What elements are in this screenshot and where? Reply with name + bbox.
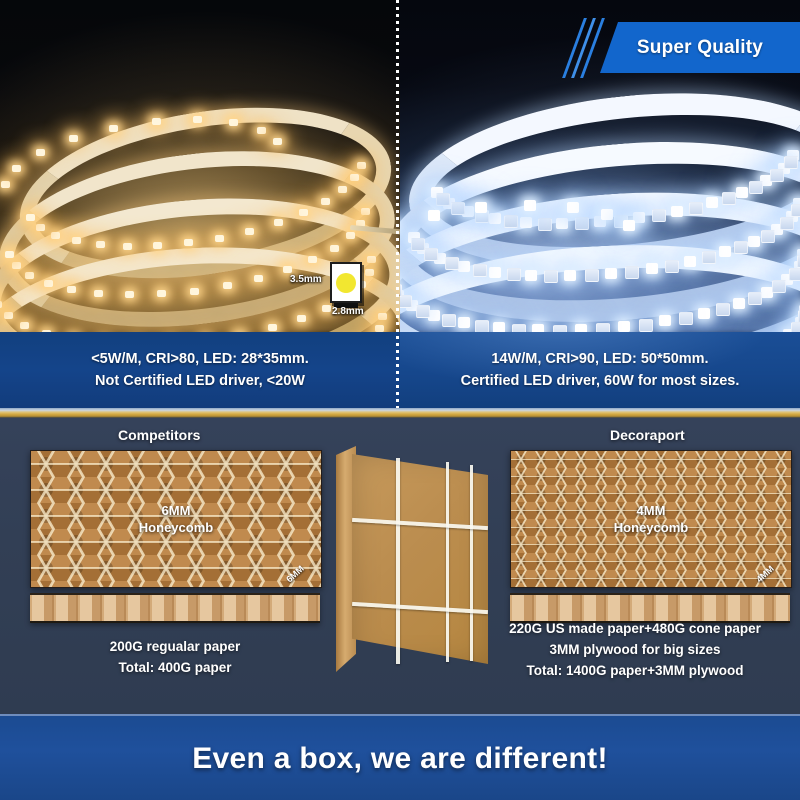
honeycomb-size-line1: 6MM: [31, 502, 321, 519]
competitor-spec-bar: <5W/M, CRI>80, LED: 28*35mm. Not Certifi…: [0, 332, 400, 408]
spec-bar-row: <5W/M, CRI>80, LED: 28*35mm. Not Certifi…: [0, 332, 800, 408]
packaging-comparison-section: Competitors Decoraport 6MM Honeycomb 6MM…: [0, 418, 800, 714]
spec-line: 14W/M, CRI>90, LED: 50*50mm.: [491, 348, 708, 370]
competitor-packaging-details: 200G regualar paper Total: 400G paper: [20, 636, 330, 678]
carton-front-face: [352, 454, 488, 664]
packaging-column-title-left: Competitors: [118, 427, 200, 443]
decoraport-spec-bar: 14W/M, CRI>90, LED: 50*50mm. Certified L…: [400, 332, 800, 408]
product-photo-row: 3.5mm 2.8mm Super Quality: [0, 0, 800, 332]
decoraport-honeycomb-panel: 4MM Honeycomb 4MM: [510, 450, 792, 588]
honeycomb-size-label: 6MM Honeycomb: [31, 502, 321, 536]
decoraport-packaging-details: 220G US made paper+480G cone paper 3MM p…: [470, 618, 800, 681]
competitor-led-size-callout: 3.5mm 2.8mm: [330, 262, 362, 303]
led-chip-diagram: [330, 262, 362, 303]
spec-line: <5W/M, CRI>80, LED: 28*35mm.: [91, 348, 309, 370]
competitor-led-strip-photo: 3.5mm 2.8mm: [0, 0, 400, 332]
packaging-detail-line: Total: 1400G paper+3MM plywood: [470, 660, 800, 681]
spec-line: Certified LED driver, 60W for most sizes…: [461, 370, 740, 392]
infographic-page: 3.5mm 2.8mm Super Quality: [0, 0, 800, 800]
led-die: [336, 273, 356, 293]
packaging-detail-line: 200G regualar paper: [20, 636, 330, 657]
footer-tagline-bar: Even a box, we are different!: [0, 714, 800, 800]
packaging-column-title-right: Decoraport: [610, 427, 685, 443]
decoraport-led-strip-photo: Super Quality 5mm 5mm: [400, 0, 800, 332]
honeycomb-size-label: 4MM Honeycomb: [511, 502, 791, 536]
packaging-detail-line: 220G US made paper+480G cone paper: [470, 618, 800, 639]
carton-strap: [396, 458, 400, 664]
packaging-detail-line: 3MM plywood for big sizes: [470, 639, 800, 660]
led-dot: [36, 149, 45, 156]
honeycomb-size-line2: Honeycomb: [31, 519, 321, 536]
cool-led-coil: [400, 96, 800, 332]
led-height-label: 3.5mm: [290, 274, 322, 285]
vertical-dotted-divider: [396, 0, 399, 408]
super-quality-banner: Super Quality: [600, 22, 800, 73]
carton-strap: [446, 462, 449, 662]
led-dot: [12, 165, 21, 172]
spec-line: Not Certified LED driver, <20W: [95, 370, 305, 392]
super-quality-banner-label: Super Quality: [637, 37, 763, 59]
led-width-label: 2.8mm: [332, 306, 364, 317]
led-dot: [69, 135, 78, 142]
competitor-honeycomb-panel: 6MM Honeycomb 6MM: [30, 450, 322, 588]
footer-tagline: Even a box, we are different!: [192, 742, 608, 776]
honeycomb-size-line1: 4MM: [511, 502, 791, 519]
banner-accent-stripes: [544, 18, 600, 78]
honeycomb-size-line2: Honeycomb: [511, 519, 791, 536]
packaging-detail-line: Total: 400G paper: [20, 657, 330, 678]
led-dot: [109, 125, 118, 132]
led-dot: [1, 181, 10, 188]
competitor-corrugated-strip: [30, 593, 320, 623]
gold-divider: [0, 408, 800, 418]
